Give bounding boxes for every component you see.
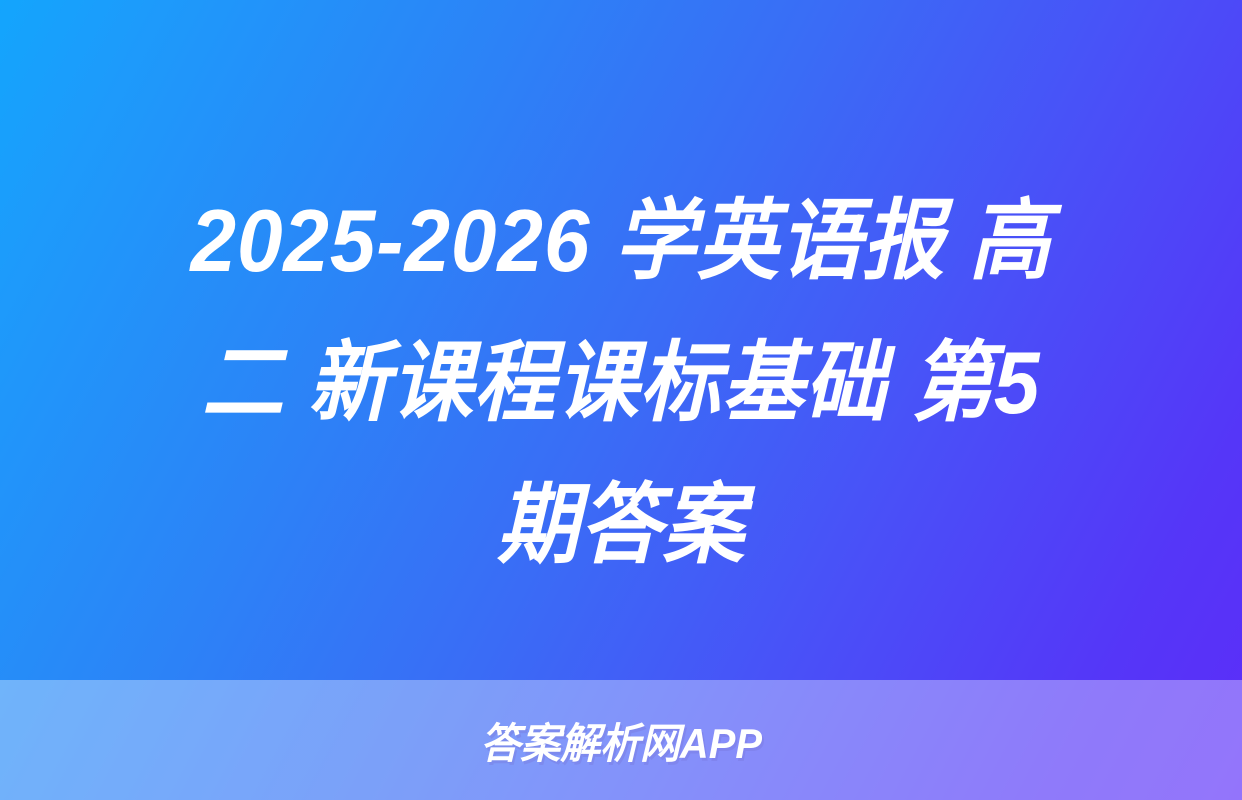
title-line-2: 二 新课程课标基础 第5 [81, 312, 1162, 454]
poster-canvas: 2025-2026 学英语报 高 二 新课程课标基础 第5 期答案 答案解析网A… [0, 0, 1242, 800]
page-title: 2025-2026 学英语报 高 二 新课程课标基础 第5 期答案 [0, 170, 1242, 596]
app-watermark-label: 答案解析网APP [480, 710, 762, 771]
title-line-1: 2025-2026 学英语报 高 [81, 170, 1162, 312]
footer-watermark-band: 答案解析网APP [0, 680, 1242, 800]
title-line-3: 期答案 [81, 454, 1162, 596]
